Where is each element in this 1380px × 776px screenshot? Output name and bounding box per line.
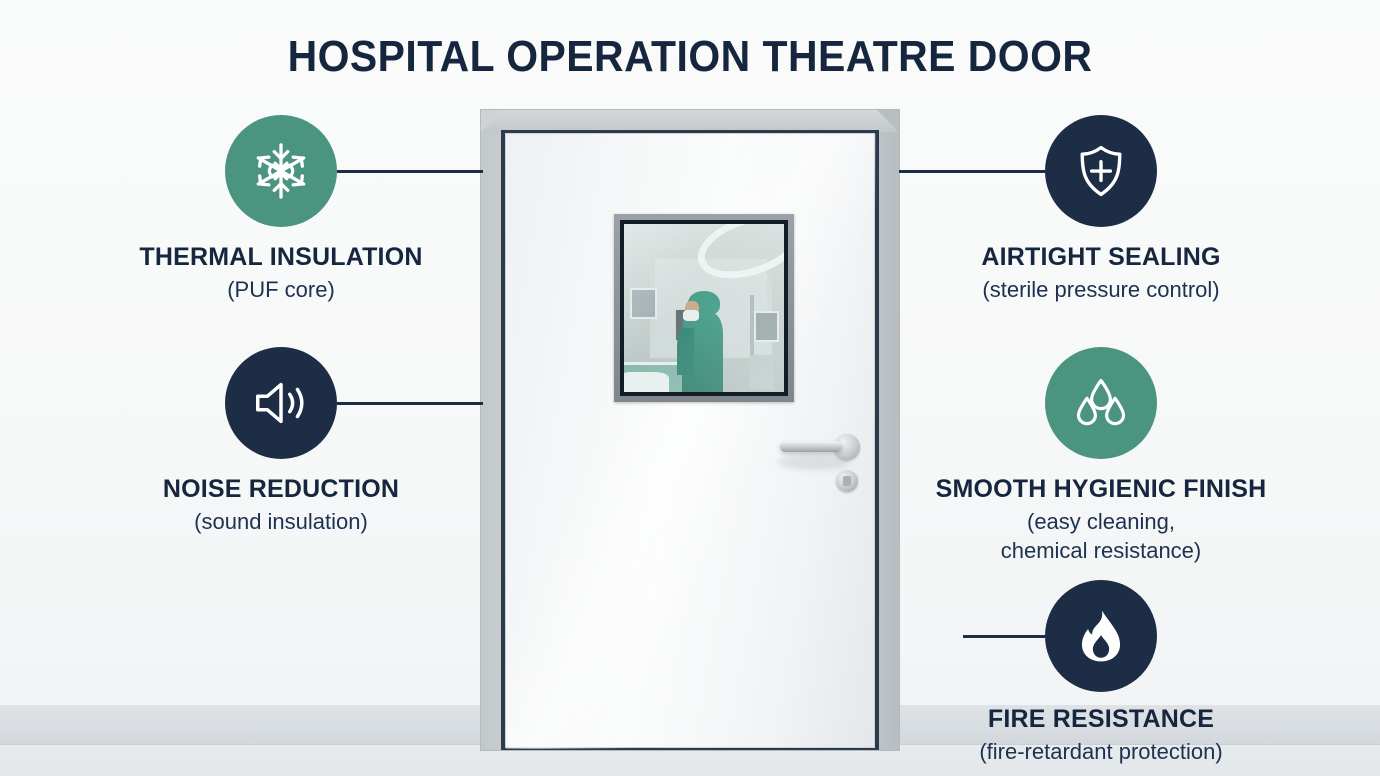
operating-theatre-scene — [624, 224, 784, 392]
feature-title: AIRTIGHT SEALING — [871, 243, 1331, 273]
badge-airtight-sealing[interactable] — [1045, 115, 1157, 227]
cylinder-lock[interactable] — [836, 470, 858, 492]
infographic-canvas: HOSPITAL OPERATION THEATRE DOOR — [0, 0, 1380, 776]
label-smooth-hygienic-finish: SMOOTH HYGIENIC FINISH (easy cleaning, c… — [871, 475, 1331, 566]
label-noise-reduction: NOISE REDUCTION (sound insulation) — [51, 475, 511, 536]
feature-title: THERMAL INSULATION — [51, 243, 511, 273]
feature-subtitle: (PUF core) — [51, 275, 511, 305]
label-thermal-insulation: THERMAL INSULATION (PUF core) — [51, 243, 511, 304]
water-droplets-icon — [1071, 373, 1131, 433]
badge-thermal-insulation[interactable] — [225, 115, 337, 227]
feature-subtitle: (fire-retardant protection) — [871, 737, 1331, 767]
badge-noise-reduction[interactable] — [225, 347, 337, 459]
label-airtight-sealing: AIRTIGHT SEALING (sterile pressure contr… — [871, 243, 1331, 304]
door-assembly — [481, 110, 899, 750]
door-frame-head — [481, 110, 899, 132]
frame-miter-left — [481, 110, 503, 132]
feature-subtitle: (easy cleaning, chemical resistance) — [871, 507, 1331, 566]
feature-title: FIRE RESISTANCE — [871, 705, 1331, 735]
badge-fire-resistance[interactable] — [1045, 580, 1157, 692]
lever-handle[interactable] — [780, 441, 842, 452]
label-fire-resistance: FIRE RESISTANCE (fire-retardant protecti… — [871, 705, 1331, 766]
snowflake-icon — [250, 140, 312, 202]
feature-title: SMOOTH HYGIENIC FINISH — [871, 475, 1331, 505]
connector-airtight-sealing — [899, 170, 1045, 173]
shield-plus-icon — [1071, 141, 1131, 201]
flame-icon — [1072, 607, 1130, 665]
feature-subtitle: (sterile pressure control) — [871, 275, 1331, 305]
connector-noise-reduction — [337, 402, 483, 405]
badge-smooth-hygienic-finish[interactable] — [1045, 347, 1157, 459]
feature-subtitle: (sound insulation) — [51, 507, 511, 537]
glass-reflection — [624, 224, 784, 392]
frame-miter-right — [877, 110, 899, 132]
connector-thermal-insulation — [337, 170, 483, 173]
vision-panel-glass — [620, 220, 788, 396]
speaker-sound-icon — [250, 372, 312, 434]
vision-panel-frame — [614, 214, 794, 402]
door-leaf-panel[interactable] — [505, 133, 875, 748]
page-title: HOSPITAL OPERATION THEATRE DOOR — [48, 32, 1331, 82]
connector-fire-resistance — [963, 635, 1045, 638]
feature-title: NOISE REDUCTION — [51, 475, 511, 505]
